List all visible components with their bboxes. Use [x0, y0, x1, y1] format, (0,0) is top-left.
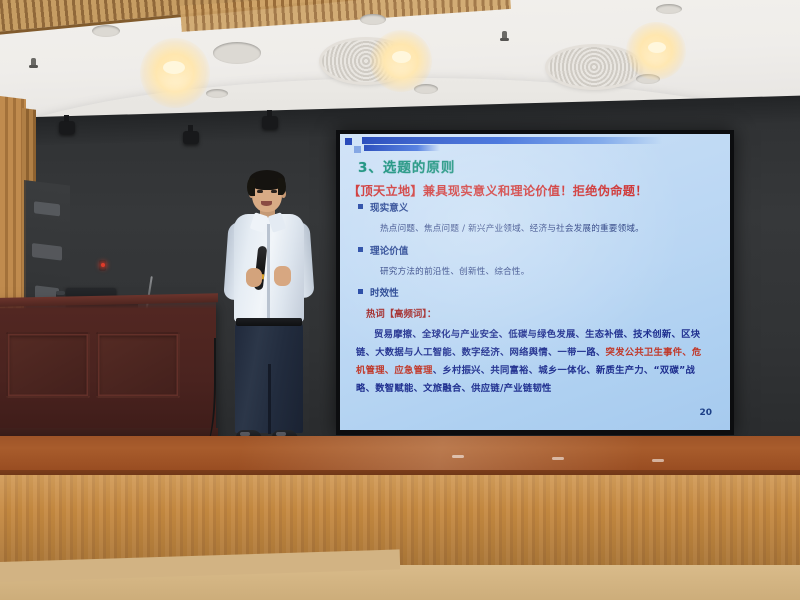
kw-red-2: 机管理、应急管理	[356, 365, 433, 376]
slide-deco-bar-bottom	[364, 145, 440, 151]
slide-bullet-marker-2	[358, 289, 363, 294]
slide-bullet-marker-1	[358, 247, 363, 252]
sprinkler-head-2	[502, 31, 507, 40]
speaker-mouth	[261, 201, 272, 206]
cabinet-item-2	[32, 243, 62, 261]
speaker-shirt-placket	[267, 224, 270, 320]
stage-floor-marker-2	[552, 457, 564, 460]
track-light-1	[59, 121, 75, 134]
slide-bullet-label-1: 理论价值	[370, 243, 408, 257]
speaker-trouser-seam	[268, 364, 271, 434]
slide-bullet-detail-0: 热点问题、焦点问题 / 新兴产业领域、经济与社会发展的重要领域。	[380, 222, 644, 234]
speaker-belt	[236, 318, 302, 326]
ceiling-recessed-vent-2	[360, 14, 386, 25]
ceiling-speaker-disc	[213, 42, 261, 64]
slide-deco-square-1	[345, 138, 352, 145]
slide-hot-words-line-0: 贸易摩擦、全球化与产业安全、低碳与绿色发展、生态补偿、技术创新、区块	[374, 326, 700, 340]
speaker-hand-right	[274, 266, 291, 286]
slide-hot-words-line-3: 略、数智赋能、文旅融合、供应链/产业链韧性	[356, 380, 552, 394]
stage-floor-marker-3	[652, 459, 664, 462]
speaker-eye-right	[271, 190, 277, 193]
slide-bullet-label-0: 现实意义	[370, 200, 408, 214]
kw-text-1: 链、大数据与人工智能、数字经济、网络舆情、一带一路、	[356, 347, 606, 358]
ceiling-spotlight-2	[392, 51, 411, 63]
ceiling-spotlight-1	[163, 61, 185, 74]
ceiling-recessed-vent-6	[656, 4, 682, 14]
podium-panel-left	[6, 332, 90, 398]
slide-bullet-marker-0	[358, 204, 363, 209]
sprinkler-head-1	[31, 58, 36, 67]
slide-hot-words-label: 热词【高频词】：	[366, 306, 436, 320]
slide-deco-square-2	[354, 146, 361, 153]
speaker-eye-left	[257, 190, 263, 193]
track-light-3	[262, 116, 278, 129]
projection-screen: 3、选题的原则 【顶天立地】兼具现实意义和理论价值！拒绝伪命题！ 现实意义 热点…	[340, 134, 730, 430]
cabinet-item-1	[34, 201, 60, 216]
slide-hot-words-line-2: 机管理、应急管理、乡村振兴、共同富裕、城乡一体化、新质生产力、“双碳”战	[356, 362, 695, 376]
ceiling-spotlight-3	[648, 42, 666, 53]
slide-deco-bar-top	[362, 137, 662, 144]
kw-text-2: 、乡村振兴、共同富裕、城乡一体化、新质生产力、“双碳”战	[433, 365, 695, 376]
stage-floor-marker-1	[452, 455, 464, 458]
speaker-hair-side-left	[247, 178, 255, 196]
slide-bullet-detail-1: 研究方法的前沿性、创新性、综合性。	[380, 265, 530, 277]
track-light-2	[183, 131, 199, 144]
kw-text-3: 略、数智赋能、文旅融合、供应链/产业链韧性	[356, 383, 552, 394]
podium	[0, 300, 216, 445]
speaker-person	[216, 168, 324, 450]
slide-title: 3、选题的原则	[358, 156, 455, 176]
lecture-hall-photo: 3、选题的原则 【顶天立地】兼具现实意义和理论价值！拒绝伪命题！ 现实意义 热点…	[0, 0, 800, 600]
podium-panel-right	[96, 332, 180, 398]
ceiling-recessed-vent-4	[206, 89, 228, 98]
kw-red-1: 突发公共卫生事件、危	[606, 347, 702, 358]
speaker-hair-side-right	[278, 178, 286, 195]
ceiling-recessed-vent-1	[92, 25, 120, 37]
slide-hot-words-line-1: 链、大数据与人工智能、数字经济、网络舆情、一带一路、突发公共卫生事件、危	[356, 344, 702, 358]
slide-highlight-line: 【顶天立地】兼具现实意义和理论价值！拒绝伪命题！	[348, 181, 648, 199]
kw-text-0: 贸易摩擦、全球化与产业安全、低碳与绿色发展、生态补偿、技术创新、区块	[374, 329, 700, 340]
slide-bullet-label-2: 时效性	[370, 285, 399, 299]
wall-red-indicator-light	[99, 260, 106, 271]
slide-page-number: 20	[699, 408, 712, 418]
speaker-hand-left	[246, 268, 262, 287]
